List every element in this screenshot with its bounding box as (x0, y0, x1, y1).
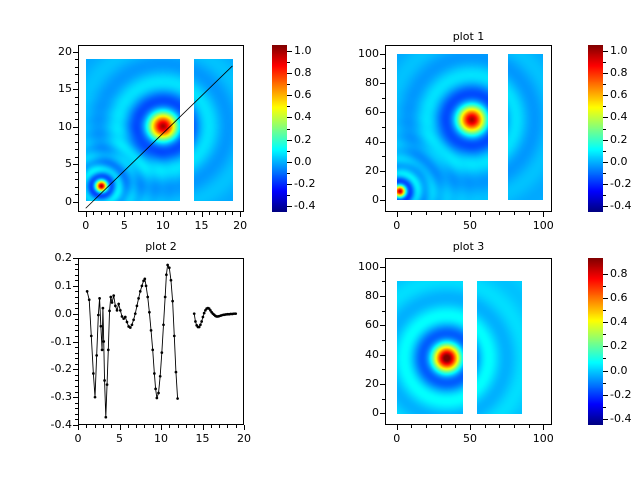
colorbar-tick (603, 322, 608, 323)
x-minor-tick (147, 212, 148, 215)
x-tick-label: 50 (448, 219, 492, 232)
data-point (95, 354, 98, 357)
data-point (171, 300, 174, 303)
x-minor-tick (178, 212, 179, 215)
x-tick (120, 425, 121, 430)
colorbar-tick (603, 206, 608, 207)
colorbar-tick-label: -0.2 (294, 177, 315, 190)
line-series-0 (87, 265, 177, 417)
data-point (86, 290, 89, 293)
y-tick-label: 0 (339, 193, 379, 206)
y-tick-label: 40 (339, 348, 379, 361)
x-tick-label: 0 (56, 432, 100, 445)
y-tick (73, 89, 78, 90)
data-point (132, 318, 135, 321)
data-point (98, 297, 101, 300)
x-tick-label: 15 (180, 219, 224, 232)
data-point (168, 266, 171, 269)
colorbar-top-left (272, 45, 287, 212)
x-minor-tick (117, 212, 118, 215)
y-minor-tick (75, 353, 78, 354)
y-tick (380, 171, 385, 172)
colorbar-tick-label: 0.8 (294, 66, 312, 79)
x-tick (86, 212, 87, 217)
x-tick (543, 425, 544, 430)
x-minor-tick (144, 425, 145, 428)
y-minor-tick (75, 187, 78, 188)
y-minor-tick (75, 319, 78, 320)
y-minor-tick (75, 314, 78, 315)
colorbar-minor-tick (603, 310, 606, 311)
x-minor-tick (217, 212, 218, 215)
data-point (175, 371, 178, 374)
colorbar-tick (287, 140, 292, 141)
y-tick-label: 15 (32, 82, 72, 95)
x-minor-tick (101, 212, 102, 215)
heatmap-canvas (194, 59, 233, 201)
colorbar-minor-tick (603, 195, 606, 196)
x-tick-label: 5 (102, 219, 146, 232)
x-minor-tick (514, 425, 515, 428)
y-tick-label: 20 (32, 45, 72, 58)
colorbar-minor-tick (603, 407, 606, 408)
y-minor-tick (75, 280, 78, 281)
y-tick (380, 83, 385, 84)
data-point (102, 307, 105, 310)
data-point (157, 392, 160, 395)
colorbar-tick-label: 0.6 (294, 88, 312, 101)
x-minor-tick (103, 425, 104, 428)
colorbar-tick (287, 184, 292, 185)
data-point (134, 312, 137, 315)
image-patch-top-left-0 (86, 59, 180, 201)
y-tick (73, 164, 78, 165)
y-tick-label: 0 (32, 195, 72, 208)
data-point (94, 396, 97, 399)
data-point (114, 305, 117, 308)
data-point (145, 284, 148, 287)
y-minor-tick (75, 157, 78, 158)
x-minor-tick (225, 212, 226, 215)
y-tick-label: 100 (339, 260, 379, 273)
x-minor-tick (411, 212, 412, 215)
colorbar-minor-tick (287, 84, 290, 85)
x-tick-label: 15 (181, 432, 225, 445)
y-minor-tick (75, 380, 78, 381)
x-minor-tick (153, 425, 154, 428)
y-minor-tick (75, 375, 78, 376)
data-point (162, 323, 165, 326)
colorbar-minor-tick (603, 151, 606, 152)
x-tick (240, 212, 241, 217)
y-tick (380, 355, 385, 356)
heatmap-canvas (86, 59, 180, 201)
data-point (234, 312, 237, 315)
colorbar-minor-tick (287, 106, 290, 107)
y-tick (380, 142, 385, 143)
colorbar-tick (603, 51, 608, 52)
x-tick (397, 212, 398, 217)
y-tick-label: 40 (339, 135, 379, 148)
y-tick-label: -0.1 (32, 335, 72, 348)
y-tick-label: 20 (339, 164, 379, 177)
image-patch-top-left-1 (194, 59, 233, 201)
y-tick-label: 80 (339, 76, 379, 89)
colorbar-minor-tick (287, 195, 290, 196)
y-minor-tick (75, 403, 78, 404)
colorbar-tick (603, 184, 608, 185)
x-minor-tick (109, 212, 110, 215)
y-minor-tick (382, 281, 385, 282)
colorbar-tick (287, 51, 292, 52)
data-point (97, 314, 100, 317)
y-minor-tick (75, 419, 78, 420)
x-tick (203, 425, 204, 430)
data-point (176, 397, 179, 400)
colorbar-tick-label: 0.8 (610, 267, 628, 280)
y-tick-label: 20 (339, 377, 379, 390)
y-minor-tick (75, 149, 78, 150)
y-minor-tick (75, 369, 78, 370)
y-tick (380, 325, 385, 326)
colorbar-tick (603, 73, 608, 74)
data-point (199, 323, 202, 326)
data-point (121, 315, 124, 318)
y-minor-tick (75, 308, 78, 309)
colorbar-gradient (272, 45, 287, 212)
x-minor-tick (140, 212, 141, 215)
y-minor-tick (75, 291, 78, 292)
x-tick (244, 425, 245, 430)
y-tick-label: 5 (32, 157, 72, 170)
y-tick-label: 60 (339, 318, 379, 331)
x-tick (470, 212, 471, 217)
x-tick-label: 20 (222, 432, 266, 445)
y-minor-tick (75, 59, 78, 60)
y-minor-tick (75, 269, 78, 270)
colorbar-minor-tick (603, 84, 606, 85)
y-minor-tick (75, 342, 78, 343)
x-minor-tick (194, 212, 195, 215)
y-tick (73, 52, 78, 53)
colorbar-minor-tick (287, 173, 290, 174)
x-tick-label: 50 (448, 432, 492, 445)
data-point (129, 326, 132, 329)
data-point (136, 305, 139, 308)
x-minor-tick (93, 212, 94, 215)
colorbar-gradient (588, 45, 603, 212)
data-point (88, 298, 91, 301)
colorbar-tick (287, 95, 292, 96)
heatmap-canvas (508, 54, 543, 200)
y-minor-tick (75, 330, 78, 331)
y-minor-tick (75, 258, 78, 259)
colorbar-minor-tick (603, 286, 606, 287)
colorbar-tick-label: 0.0 (610, 364, 628, 377)
y-minor-tick (75, 264, 78, 265)
y-tick-label: 60 (339, 105, 379, 118)
data-point (151, 349, 154, 352)
colorbar-tick-label: 0.4 (610, 315, 628, 328)
data-point (146, 296, 149, 299)
data-point (202, 316, 205, 319)
x-minor-tick (441, 212, 442, 215)
x-minor-tick (236, 425, 237, 428)
plot-title-bottom-right: plot 3 (385, 240, 552, 253)
colorbar-tick-label: -0.4 (610, 412, 631, 425)
colorbar-tick-label: 0.6 (610, 88, 628, 101)
colorbar-bottom-right (588, 258, 603, 425)
y-minor-tick (75, 286, 78, 287)
data-point (107, 349, 110, 352)
x-minor-tick (441, 425, 442, 428)
y-tick (380, 413, 385, 414)
colorbar-tick-label: -0.2 (610, 388, 631, 401)
y-minor-tick (382, 186, 385, 187)
y-tick (380, 200, 385, 201)
x-minor-tick (186, 212, 187, 215)
x-minor-tick (128, 425, 129, 428)
x-minor-tick (499, 212, 500, 215)
colorbar-tick-label: -0.2 (610, 177, 631, 190)
y-minor-tick (75, 104, 78, 105)
data-point (166, 264, 169, 267)
x-tick-label: 0 (375, 432, 419, 445)
line-plot-area (78, 258, 244, 425)
x-tick (543, 212, 544, 217)
y-minor-tick (75, 325, 78, 326)
x-tick-label: 5 (98, 432, 142, 445)
data-point (193, 312, 196, 315)
data-point (131, 323, 134, 326)
colorbar-gradient (588, 258, 603, 425)
colorbar-minor-tick (603, 106, 606, 107)
colorbar-minor-tick (603, 358, 606, 359)
y-minor-tick (75, 392, 78, 393)
x-tick (202, 212, 203, 217)
x-tick (470, 425, 471, 430)
colorbar-minor-tick (603, 383, 606, 384)
data-point (116, 309, 119, 312)
data-point (111, 301, 114, 304)
x-minor-tick (186, 425, 187, 428)
colorbar-tick (287, 73, 292, 74)
plot-title-top-right: plot 1 (385, 30, 552, 43)
y-minor-tick (75, 194, 78, 195)
figure-canvas: 0510152005101520-0.4-0.20.00.20.40.60.81… (0, 0, 640, 480)
y-tick-label: -0.4 (32, 418, 72, 431)
x-tick (163, 212, 164, 217)
colorbar-tick (287, 206, 292, 207)
x-minor-tick (499, 425, 500, 428)
y-tick-label: 0.1 (32, 279, 72, 292)
y-tick (380, 112, 385, 113)
colorbar-tick-label: 0.8 (610, 66, 628, 79)
y-minor-tick (75, 303, 78, 304)
colorbar-tick (603, 419, 608, 420)
x-minor-tick (411, 425, 412, 428)
y-minor-tick (75, 112, 78, 113)
colorbar-tick-label: 0.4 (610, 110, 628, 123)
x-tick-label: 100 (521, 219, 565, 232)
x-minor-tick (514, 212, 515, 215)
x-minor-tick (86, 425, 87, 428)
data-point (126, 321, 129, 324)
y-minor-tick (75, 142, 78, 143)
data-point (141, 284, 144, 287)
data-point (137, 297, 140, 300)
y-tick-label: -0.2 (32, 362, 72, 375)
y-minor-tick (75, 364, 78, 365)
x-minor-tick (426, 212, 427, 215)
data-point (148, 311, 151, 314)
x-tick (397, 425, 398, 430)
x-tick-label: 100 (521, 432, 565, 445)
image-patch-top-right-0 (397, 54, 488, 200)
y-minor-tick (75, 336, 78, 337)
colorbar-minor-tick (287, 129, 290, 130)
x-minor-tick (485, 212, 486, 215)
data-point (112, 294, 115, 297)
y-minor-tick (382, 311, 385, 312)
x-tick-label: 10 (139, 432, 183, 445)
colorbar-tick-label: -0.4 (294, 199, 315, 212)
colorbar-tick (603, 140, 608, 141)
x-tick (161, 425, 162, 430)
image-patch-bottom-right-1 (477, 281, 522, 414)
colorbar-tick-label: 0.2 (610, 133, 628, 146)
y-minor-tick (382, 369, 385, 370)
data-point (92, 372, 95, 375)
data-point (203, 312, 206, 315)
data-point (194, 320, 197, 323)
y-minor-tick (75, 414, 78, 415)
y-tick-label: 0 (339, 406, 379, 419)
y-minor-tick (382, 399, 385, 400)
data-point (119, 309, 122, 312)
y-minor-tick (75, 74, 78, 75)
data-point (117, 303, 120, 306)
y-minor-tick (75, 134, 78, 135)
y-minor-tick (382, 98, 385, 99)
data-point (103, 379, 106, 382)
x-tick (78, 425, 79, 430)
colorbar-minor-tick (287, 151, 290, 152)
data-point (139, 290, 142, 293)
x-minor-tick (95, 425, 96, 428)
colorbar-tick (603, 395, 608, 396)
colorbar-tick-label: 0.2 (294, 133, 312, 146)
y-minor-tick (382, 127, 385, 128)
x-minor-tick (136, 425, 137, 428)
y-tick (380, 384, 385, 385)
y-minor-tick (382, 68, 385, 69)
y-tick-label: 10 (32, 120, 72, 133)
x-minor-tick (171, 212, 172, 215)
x-tick-label: 10 (141, 219, 185, 232)
heatmap-canvas (397, 281, 463, 414)
x-minor-tick (529, 212, 530, 215)
x-minor-tick (455, 425, 456, 428)
colorbar-tick-label: 0.2 (610, 339, 628, 352)
x-tick-label: 20 (218, 219, 262, 232)
colorbar-tick-label: 0.4 (294, 110, 312, 123)
data-point (170, 279, 173, 282)
colorbar-minor-tick (603, 62, 606, 63)
data-point (160, 351, 163, 354)
colorbar-tick (287, 162, 292, 163)
y-tick (380, 296, 385, 297)
colorbar-tick (603, 346, 608, 347)
colorbar-tick-label: 0.6 (610, 291, 628, 304)
y-minor-tick (75, 172, 78, 173)
colorbar-tick-label: -0.4 (610, 199, 631, 212)
x-minor-tick (455, 212, 456, 215)
x-minor-tick (209, 212, 210, 215)
y-minor-tick (75, 358, 78, 359)
y-minor-tick (75, 347, 78, 348)
colorbar-minor-tick (603, 129, 606, 130)
y-minor-tick (75, 67, 78, 68)
y-tick-label: 80 (339, 289, 379, 302)
data-point (150, 329, 153, 332)
data-point (154, 387, 157, 390)
y-minor-tick (75, 397, 78, 398)
x-minor-tick (426, 425, 427, 428)
heatmap-canvas (397, 54, 488, 200)
x-minor-tick (178, 425, 179, 428)
y-minor-tick (75, 179, 78, 180)
plot-title-bottom-left: plot 2 (78, 240, 244, 253)
x-tick-label: 0 (64, 219, 108, 232)
data-point (173, 335, 176, 338)
x-minor-tick (232, 212, 233, 215)
x-minor-tick (227, 425, 228, 428)
colorbar-tick (603, 117, 608, 118)
y-tick (380, 267, 385, 268)
heatmap-canvas (477, 281, 522, 414)
data-point (164, 296, 167, 299)
data-point (200, 320, 203, 323)
colorbar-tick (603, 298, 608, 299)
colorbar-tick (603, 371, 608, 372)
colorbar-minor-tick (287, 62, 290, 63)
colorbar-minor-tick (603, 334, 606, 335)
x-minor-tick (485, 425, 486, 428)
y-minor-tick (75, 425, 78, 426)
y-minor-tick (75, 119, 78, 120)
colorbar-tick (603, 274, 608, 275)
image-patch-top-right-1 (508, 54, 543, 200)
y-minor-tick (75, 297, 78, 298)
y-minor-tick (382, 156, 385, 157)
y-tick-label: -0.3 (32, 390, 72, 403)
data-point (109, 296, 112, 299)
x-minor-tick (529, 425, 530, 428)
data-point (99, 325, 102, 328)
x-minor-tick (194, 425, 195, 428)
data-point (124, 316, 127, 319)
data-point (156, 397, 159, 400)
colorbar-tick (287, 117, 292, 118)
colorbar-tick-label: 1.0 (294, 44, 312, 57)
colorbar-top-right (588, 45, 603, 212)
y-minor-tick (75, 275, 78, 276)
y-minor-tick (75, 386, 78, 387)
colorbar-tick-label: 0.0 (294, 155, 312, 168)
data-point (104, 416, 107, 419)
y-tick-label: 0.0 (32, 307, 72, 320)
